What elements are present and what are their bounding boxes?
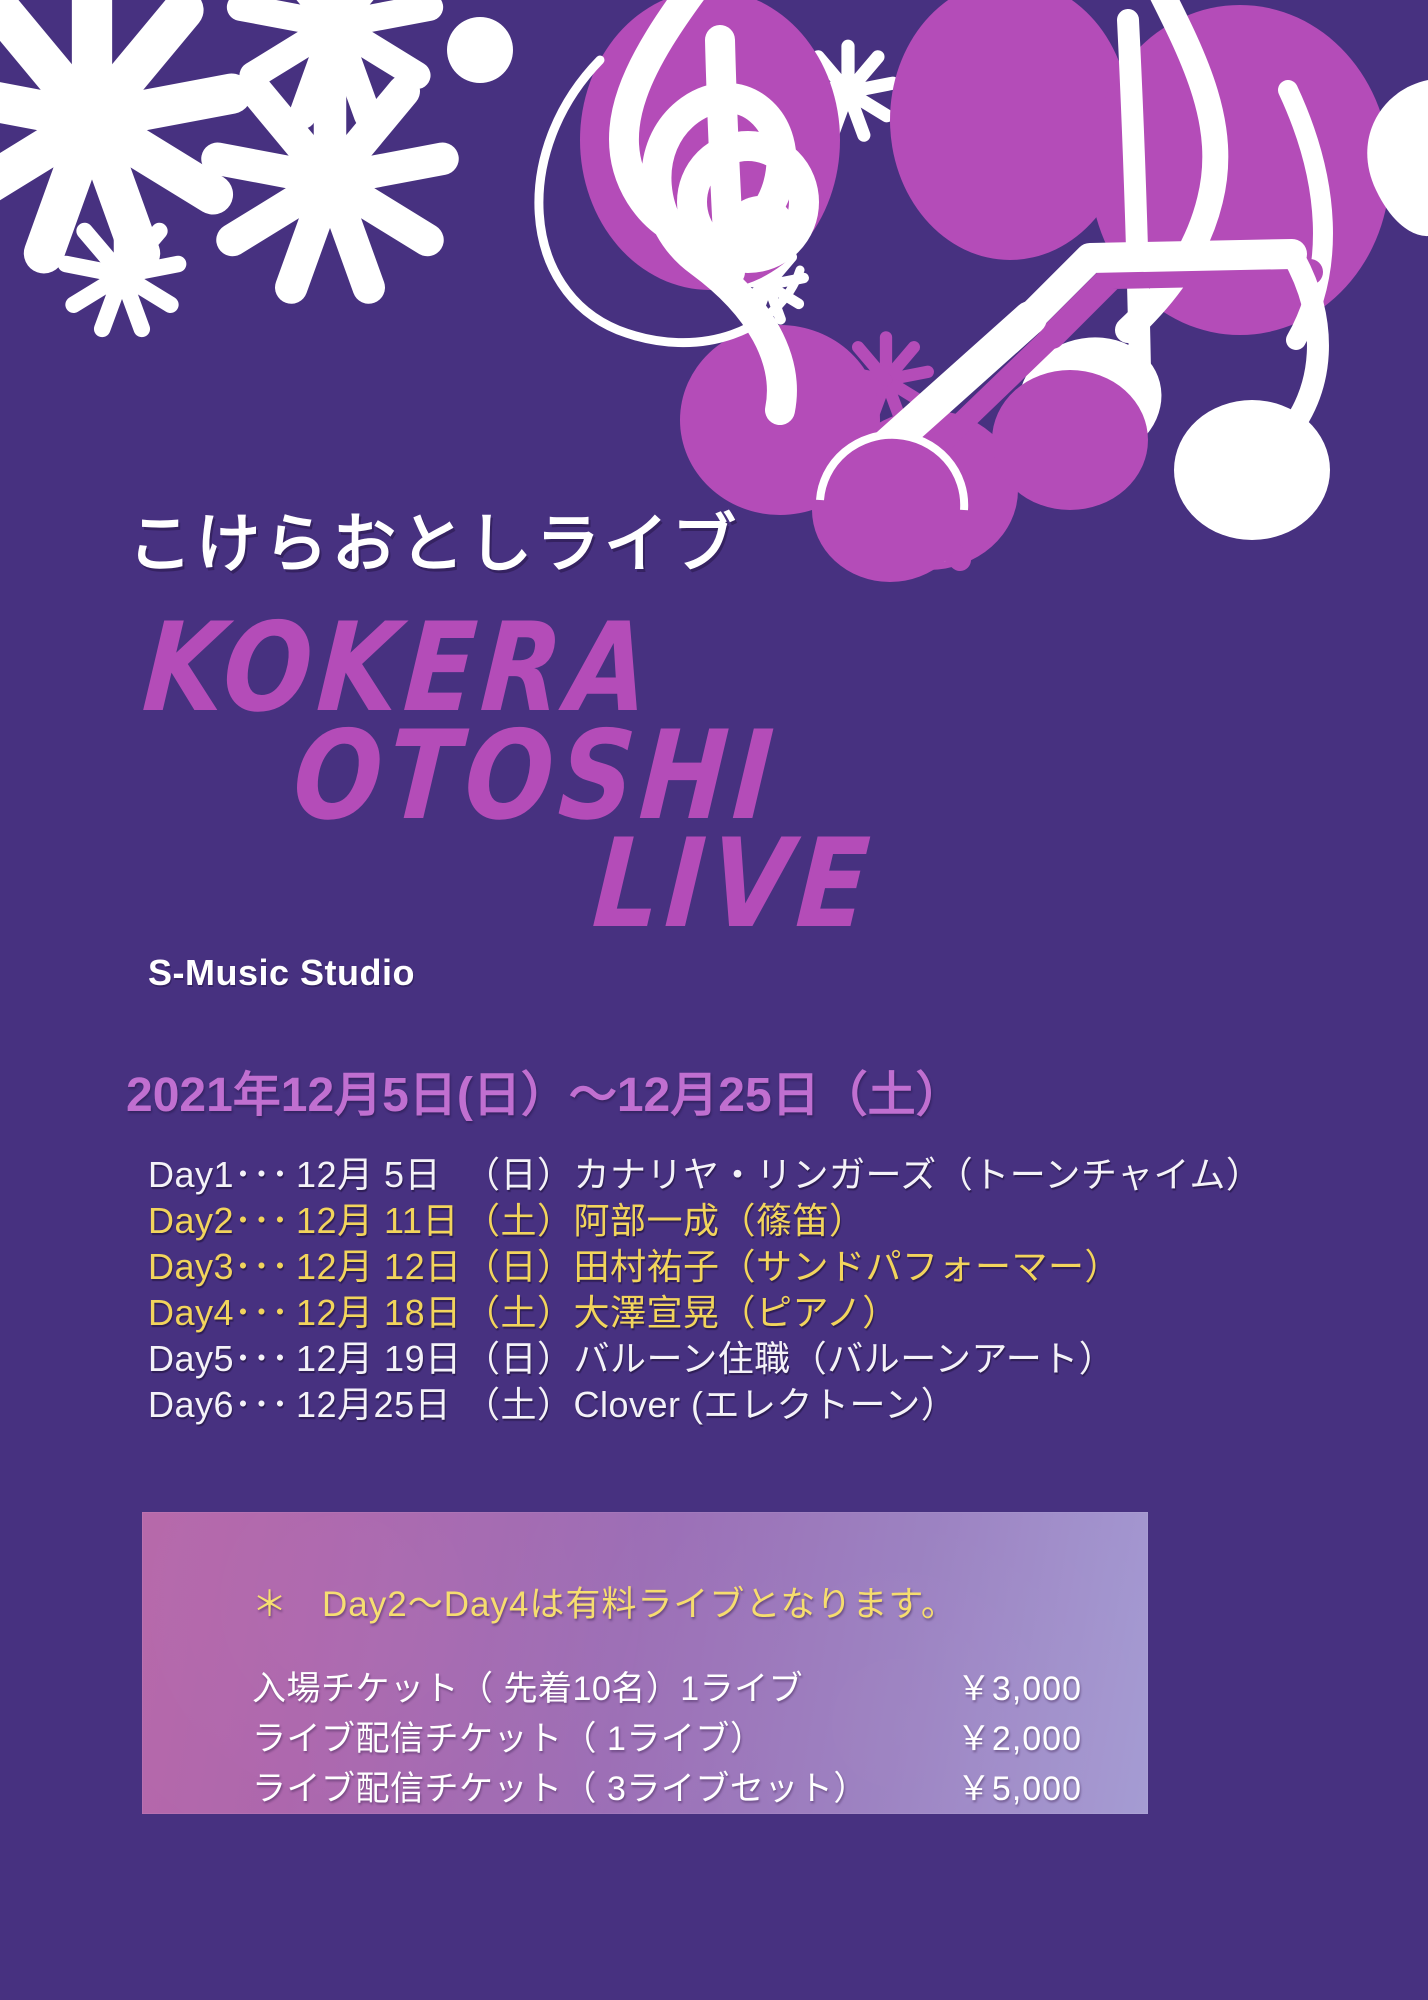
- starburst-icon: [241, 0, 430, 115]
- schedule-row: Day4･･･12月 18日（土）大澤宣晃（ピアノ）: [148, 1290, 1328, 1336]
- schedule-date: 12月 5日: [296, 1152, 464, 1198]
- schedule-row: Day5･･･12月 19日（日）バルーン住職（バルーンアート）: [148, 1336, 1328, 1382]
- schedule-weekday: （土）: [464, 1290, 574, 1336]
- kana-title: こけらおとしライブ: [128, 512, 740, 576]
- ticket-price-list: 入場チケット（ 先着10名）1ライブ￥3,000ライブ配信チケット（ 1ライブ）…: [252, 1664, 1082, 1814]
- schedule-weekday: （土）: [464, 1382, 574, 1428]
- paid-live-note: ＊Day2〜Day4は有料ライブとなります。: [252, 1576, 957, 1627]
- brush-title-live: LIVE: [590, 829, 878, 939]
- schedule-row: Day1･･･12月 5日（日）カナリヤ・リンガーズ（トーンチャイム）: [148, 1152, 1328, 1198]
- eighth-note-icon: [1005, 0, 1323, 478]
- ticket-price: ￥2,000: [917, 1714, 1082, 1764]
- ticket-name: ライブ配信チケット（ 1ライブ）: [252, 1714, 764, 1764]
- schedule-date: 12月 18日: [296, 1290, 464, 1336]
- dot-icon: [447, 17, 513, 83]
- ticket-price-row: 入場チケット（ 先着10名）1ライブ￥3,000: [252, 1664, 1082, 1714]
- ticket-price-row: ライブ配信チケット（ 1ライブ）￥2,000: [252, 1714, 1082, 1764]
- starburst-icon: [803, 46, 893, 135]
- starburst-icon: [0, 0, 232, 253]
- schedule-performer: 大澤宣晃（ピアノ）: [574, 1292, 899, 1333]
- starburst-icon: [844, 337, 928, 420]
- schedule-performer: 田村祐子（サンドパフォーマー）: [574, 1246, 1122, 1287]
- schedule-row: Day3･･･12月 12日（日）田村祐子（サンドパフォーマー）: [148, 1244, 1328, 1290]
- schedule-performer: バルーン住職（バルーンアート）: [574, 1338, 1116, 1379]
- schedule-list: Day1･･･12月 5日（日）カナリヤ・リンガーズ（トーンチャイム）Day2･…: [148, 1152, 1328, 1428]
- event-date-range: 2021年12月5日(日）〜12月25日（土）: [126, 1055, 964, 1125]
- ticket-name: 入場チケット（ 先着10名）1ライブ: [252, 1664, 803, 1714]
- schedule-day-label: Day2･･･: [148, 1198, 296, 1244]
- paid-live-note-text: Day2〜Day4は有料ライブとなります。: [322, 1585, 957, 1624]
- ticket-price-row: ライブ配信チケット（ 3ライブセット）￥5,000: [252, 1764, 1082, 1814]
- schedule-performer: カナリヤ・リンガーズ（トーンチャイム）: [574, 1154, 1263, 1195]
- schedule-performer: Clover (エレクトーン）: [574, 1384, 958, 1425]
- starburst-icon: [66, 218, 178, 329]
- beamed-note-icon: [812, 254, 1330, 582]
- starburst-icon: [218, 65, 443, 288]
- ticket-name: ライブ配信チケット（ 3ライブセット）: [252, 1764, 868, 1814]
- schedule-day-label: Day6･･･: [148, 1382, 296, 1428]
- schedule-row: Day6･･･12月25日（土）Clover (エレクトーン）: [148, 1382, 1328, 1428]
- ticket-price: ￥5,000: [917, 1764, 1082, 1814]
- clef-note-head: [724, 196, 796, 268]
- schedule-date: 12月25日: [296, 1382, 464, 1428]
- schedule-day-label: Day1･･･: [148, 1152, 296, 1198]
- schedule-day-label: Day3･･･: [148, 1244, 296, 1290]
- schedule-day-label: Day4･･･: [148, 1290, 296, 1336]
- schedule-weekday: （日）: [464, 1152, 574, 1198]
- schedule-row: Day2･･･12月 11日（土）阿部一成（篠笛）: [148, 1198, 1328, 1244]
- studio-name: S-Music Studio: [148, 952, 415, 994]
- clef-outline-swirl: [539, 60, 800, 343]
- note-blob-shape: [580, 0, 1390, 570]
- schedule-day-label: Day5･･･: [148, 1336, 296, 1382]
- asterisk-icon: ＊: [252, 1585, 288, 1624]
- schedule-date: 12月 19日: [296, 1336, 464, 1382]
- schedule-date: 12月 12日: [296, 1244, 464, 1290]
- ticket-info-panel: ＊Day2〜Day4は有料ライブとなります。 入場チケット（ 先着10名）1ライ…: [142, 1512, 1148, 1814]
- poster-canvas: こけらおとしライブ KOKERA OTOSHI LIVE S-Music Stu…: [0, 0, 1428, 2000]
- schedule-performer: 阿部一成（篠笛）: [574, 1200, 866, 1241]
- schedule-date: 12月 11日: [296, 1198, 464, 1244]
- treble-clef-icon: [624, 0, 804, 410]
- schedule-weekday: （日）: [464, 1244, 574, 1290]
- schedule-weekday: （日）: [464, 1336, 574, 1382]
- schedule-weekday: （土）: [464, 1198, 574, 1244]
- ticket-price: ￥3,000: [917, 1664, 1082, 1714]
- edge-lobe-shape: [1367, 80, 1428, 236]
- starburst-icon: [732, 249, 803, 320]
